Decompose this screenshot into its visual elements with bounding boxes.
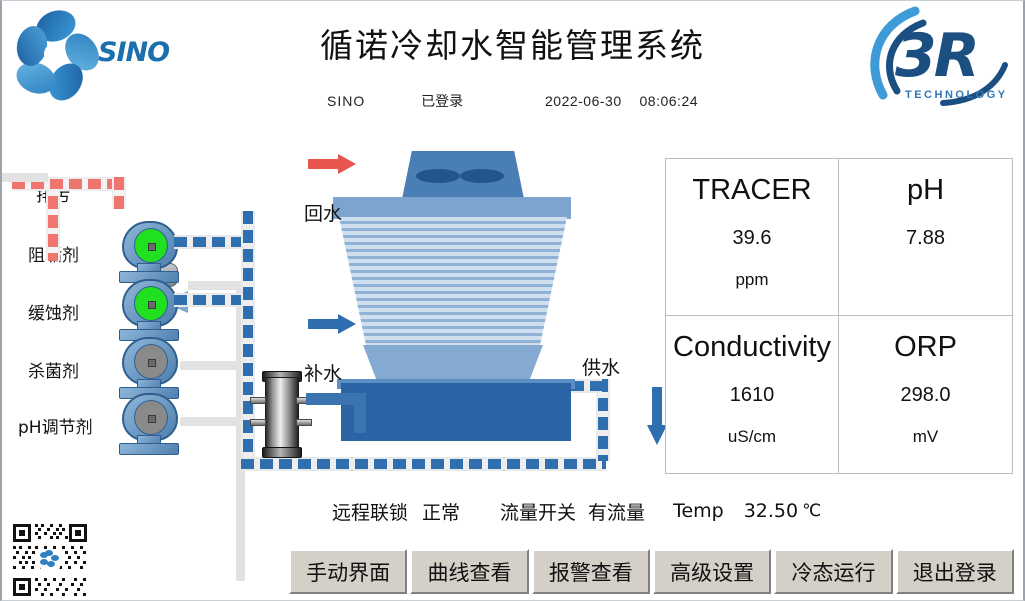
tower-fill-media bbox=[339, 217, 567, 347]
qr-center-logo bbox=[40, 550, 60, 570]
pump-ph-adjuster[interactable] bbox=[120, 393, 176, 455]
measurement-unit: ppm bbox=[735, 270, 768, 290]
3r-technology-logo: 3R TECHNOLOGY bbox=[857, 3, 1017, 118]
measurement-tracer: TRACER 39.6 ppm bbox=[666, 159, 839, 316]
pump-biocide[interactable] bbox=[120, 337, 176, 399]
loop-bottom-horizontal bbox=[241, 457, 606, 471]
feedline-corrosion-inhibitor bbox=[174, 293, 246, 307]
label-makeup-water: 补水 bbox=[304, 359, 342, 386]
measurement-orp: ORP 298.0 mV bbox=[839, 316, 1012, 473]
remote-interlock-label: 远程联锁 bbox=[332, 498, 408, 525]
fan-blade-right bbox=[460, 169, 504, 183]
alarm-view-button[interactable]: 报警查看 bbox=[532, 549, 650, 594]
pump-antiscalant[interactable] bbox=[120, 221, 176, 283]
cold-start-button[interactable]: 冷态运行 bbox=[774, 549, 892, 594]
trend-view-button[interactable]: 曲线查看 bbox=[410, 549, 528, 594]
system-time: 08:06:24 bbox=[640, 93, 699, 109]
return-line-down bbox=[112, 177, 126, 209]
measurement-value: 298.0 bbox=[900, 384, 950, 407]
flow-switch-label: 流量开关 bbox=[500, 498, 576, 525]
makeup-pipe-vertical bbox=[354, 393, 366, 433]
label-ph-adjuster: pH调节剂 bbox=[18, 413, 93, 438]
measurement-name: pH bbox=[907, 175, 944, 207]
flow-switch-value: 有流量 bbox=[588, 498, 645, 525]
measurement-ph: pH 7.88 bbox=[839, 159, 1012, 316]
qr-code[interactable] bbox=[10, 521, 90, 599]
remote-interlock-value: 正常 bbox=[422, 498, 460, 525]
temperature-unit: ℃ bbox=[802, 501, 821, 521]
measurement-unit: uS/cm bbox=[728, 427, 776, 447]
logout-button[interactable]: 退出登录 bbox=[896, 549, 1014, 594]
pipe-biocide-gray bbox=[180, 361, 242, 370]
pipe-left-outlet bbox=[2, 173, 48, 182]
3r-logo-text: 3R bbox=[895, 21, 977, 91]
process-diagram: 排污 阻垢剂 缓蚀剂 杀菌剂 pH调节剂 bbox=[2, 121, 657, 486]
tower-basin bbox=[341, 383, 571, 441]
advanced-settings-button[interactable]: 高级设置 bbox=[653, 549, 771, 594]
system-date: 2022-06-30 bbox=[545, 93, 622, 109]
login-status: 已登录 bbox=[421, 91, 463, 111]
manual-interface-button[interactable]: 手动界面 bbox=[289, 549, 407, 594]
measurement-name: TRACER bbox=[692, 175, 811, 207]
feedline-antiscalant bbox=[174, 235, 246, 249]
button-bar: 手动界面 曲线查看 报警查看 高级设置 冷态运行 退出登录 bbox=[289, 549, 1014, 594]
temperature-label: Temp bbox=[673, 500, 724, 522]
measurement-value: 1610 bbox=[730, 384, 775, 407]
pipe-ph-gray bbox=[180, 417, 242, 426]
label-return-water: 回水 bbox=[304, 199, 342, 226]
measurement-name: ORP bbox=[894, 332, 957, 364]
measurement-name: Conductivity bbox=[673, 332, 831, 364]
sensor-chamber-icon[interactable] bbox=[260, 369, 302, 457]
cooling-tower bbox=[337, 151, 607, 441]
label-corrosion-inhibitor: 缓蚀剂 bbox=[28, 299, 79, 324]
temperature-value: 32.50 bbox=[744, 500, 798, 522]
arrow-return-water bbox=[308, 159, 358, 169]
status-row: 远程联锁 正常 流量开关 有流量 Temp 32.50 ℃ bbox=[332, 494, 1012, 528]
logged-in-user: SINO bbox=[327, 93, 365, 109]
label-biocide: 杀菌剂 bbox=[28, 357, 79, 382]
measurement-conductivity: Conductivity 1610 uS/cm bbox=[666, 316, 839, 473]
label-supply-water: 供水 bbox=[582, 353, 620, 380]
header: SINO 循诺冷却水智能管理系统 SINO 已登录 2022-06-30 08:… bbox=[2, 1, 1023, 121]
arrow-makeup-water bbox=[308, 319, 358, 329]
measurement-value: 39.6 bbox=[733, 227, 772, 250]
arrow-supply-water bbox=[652, 387, 662, 445]
fan-deck bbox=[402, 151, 524, 199]
pump-corrosion-inhibitor[interactable] bbox=[120, 279, 176, 341]
fan-blade-left bbox=[416, 169, 460, 183]
measurement-value: 7.88 bbox=[906, 227, 945, 250]
3r-logo-subtitle: TECHNOLOGY bbox=[905, 89, 1008, 101]
measurement-panel: TRACER 39.6 ppm pH 7.88 Conductivity 161… bbox=[665, 158, 1013, 474]
measurement-unit: mV bbox=[913, 427, 939, 447]
application-window: SINO 循诺冷却水智能管理系统 SINO 已登录 2022-06-30 08:… bbox=[0, 0, 1025, 601]
tower-top bbox=[333, 197, 571, 219]
